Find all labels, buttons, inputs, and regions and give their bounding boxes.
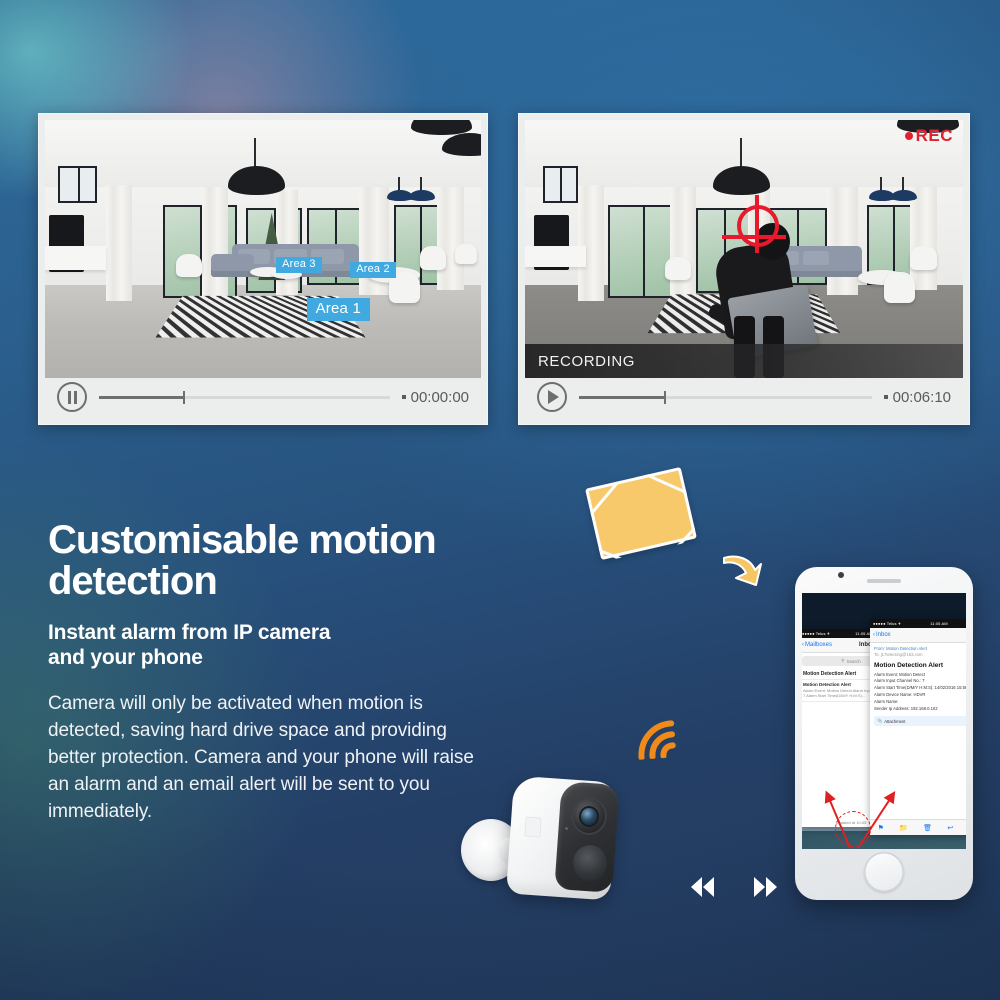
phone-earpiece <box>867 579 901 583</box>
video-player-left[interactable]: Area 3 Area 2 Area 1 00:00:00 <box>38 113 488 425</box>
recording-banner: RECORDING <box>525 344 963 378</box>
transport-bar-left[interactable]: 00:00:00 <box>45 376 481 418</box>
status-carrier: ●●●●● Telus ✈ <box>873 621 901 626</box>
video-stage-right: REC RECORDING <box>525 120 963 378</box>
annotation-arrows <box>800 790 910 852</box>
timecode-value-right: 00:06:10 <box>893 389 951 406</box>
video-stage-left: Area 3 Area 2 Area 1 <box>45 120 481 378</box>
message-body-row: Alarm Device Name: HDVR <box>874 692 966 699</box>
rec-dot-icon <box>905 132 913 140</box>
message-body-row: Alarm Name: <box>874 699 966 706</box>
media-nav-arrows[interactable] <box>688 876 780 898</box>
camera-microphone-icon <box>565 827 568 830</box>
crosshair-line-h <box>722 235 786 239</box>
chevron-left-icon: ‹ <box>873 632 875 638</box>
area-tag-3[interactable]: Area 3 <box>276 257 322 273</box>
message-attachment[interactable]: 📎 Attachment <box>874 716 966 726</box>
crosshair-line-v <box>755 195 759 253</box>
message-body-row: Alarm Input Channel No.: 7 <box>874 678 966 685</box>
subheadline-line-1: Instant alarm from IP camera <box>48 620 488 646</box>
back-to-mailboxes-button[interactable]: ‹ Mailboxes <box>802 642 832 648</box>
message-body: Alarm Event: Motion Detect Alarm Input C… <box>870 672 966 713</box>
camera-brand-label <box>524 816 541 837</box>
message-nav-bar[interactable]: ‹ Inbox ˅ ˄ <box>870 628 966 643</box>
marketing-copy: Customisable motion detection Instant al… <box>48 520 488 826</box>
progress-track-left[interactable] <box>99 396 390 399</box>
message-to: To: j17tetecting@163.com <box>874 652 966 658</box>
trash-icon[interactable]: 🗑 <box>923 824 932 832</box>
message-body-row: Alarm Start Time(D/M/Y H:M:S): 14/02/201… <box>874 685 966 692</box>
rec-indicator: REC <box>905 126 953 146</box>
timecode-left: 00:00:00 <box>402 389 469 406</box>
rewind-icon <box>691 877 714 897</box>
search-placeholder: Search <box>847 659 861 664</box>
wifi-signal-icon <box>632 710 693 760</box>
progress-track-right[interactable] <box>579 396 872 399</box>
subheadline: Instant alarm from IP camera and your ph… <box>48 620 488 671</box>
area-tag-2[interactable]: Area 2 <box>350 262 396 278</box>
status-time: 11:05 AM <box>930 621 947 626</box>
body-paragraph: Camera will only be activated when motio… <box>48 691 488 826</box>
ip-camera-product-image <box>455 745 630 920</box>
recording-banner-label: RECORDING <box>525 353 635 370</box>
reply-icon[interactable]: ↩ <box>947 824 953 832</box>
pause-button[interactable] <box>57 382 87 412</box>
subheadline-line-2: and your phone <box>48 645 488 671</box>
back-label: Inbox <box>876 632 891 638</box>
transport-bar-right[interactable]: 00:06:10 <box>525 376 963 418</box>
rec-label: REC <box>916 126 953 146</box>
paperclip-icon: 📎 <box>877 718 882 724</box>
camera-pir-sensor <box>573 845 607 881</box>
video-player-right[interactable]: REC RECORDING 00:06:10 <box>518 113 970 425</box>
flow-arrow-icon <box>722 552 762 586</box>
status-carrier: ●●●●● Telus ✈ <box>802 631 830 636</box>
fast-forward-icon <box>754 877 777 897</box>
living-room-scene <box>45 120 481 378</box>
ios-status-bar: ●●●●● Telus ✈ 11:05 AM ▮ <box>870 619 966 628</box>
timecode-value-left: 00:00:00 <box>411 389 469 406</box>
timecode-right: 00:06:10 <box>884 389 951 406</box>
play-button[interactable] <box>537 382 567 412</box>
search-icon: ⚲ <box>841 658 844 664</box>
chevron-left-icon: ‹ <box>802 642 804 648</box>
area-tag-1[interactable]: Area 1 <box>307 298 370 321</box>
camera-lens-icon <box>581 808 597 825</box>
back-to-inbox-button[interactable]: ‹ Inbox <box>873 632 891 638</box>
phone-front-camera-icon <box>838 572 844 578</box>
page-title: Customisable motion detection <box>48 520 488 602</box>
message-meta: From: Motion Detection Alert To: j17tete… <box>870 643 966 660</box>
attachment-label: Attachment <box>884 719 905 724</box>
message-subject: Motion Detection Alert <box>870 660 966 672</box>
stop-square-icon <box>884 395 888 399</box>
message-body-row: Sender Ip Address: 192.168.0.102 <box>874 706 966 713</box>
message-body-row: Alarm Event: Motion Detect <box>874 672 966 679</box>
back-label: Mailboxes <box>805 642 832 648</box>
phone-home-button[interactable] <box>864 852 904 892</box>
stop-square-icon <box>402 395 406 399</box>
